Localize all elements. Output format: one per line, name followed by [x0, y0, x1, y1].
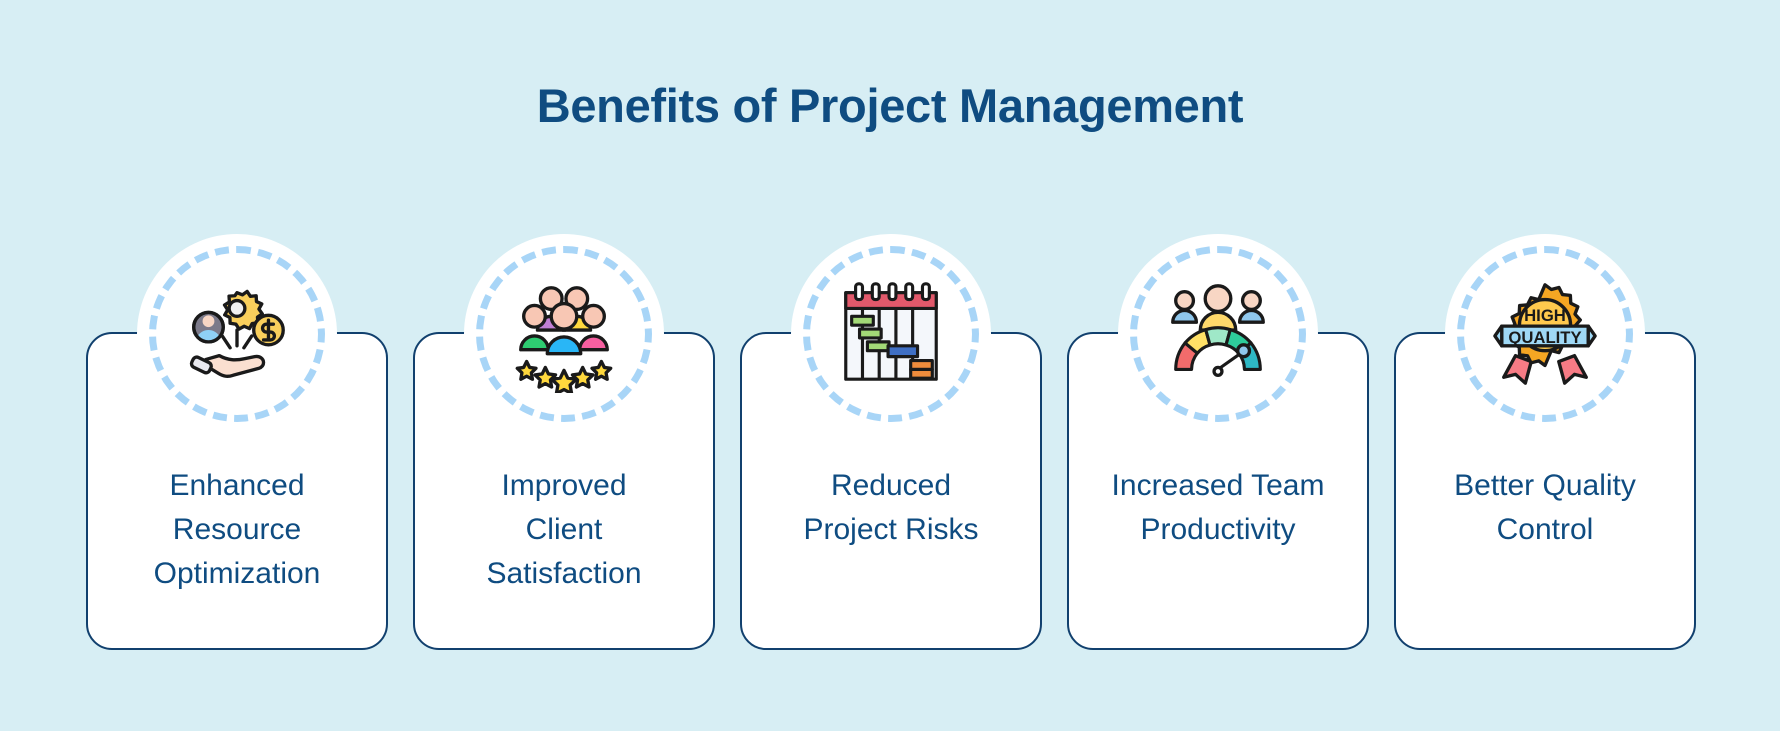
benefit-card-label: Reduced Project Risks — [756, 464, 1026, 552]
benefits-card-list: Enhanced Resource Optimization — [86, 332, 1696, 650]
badge-text-high: HIGH — [1524, 306, 1566, 325]
benefit-card-label: Increased Team Productivity — [1083, 464, 1353, 552]
benefit-card-enhanced-resource-optimization[interactable]: Enhanced Resource Optimization — [86, 332, 388, 650]
benefit-card-increased-team-productivity[interactable]: Increased Team Productivity — [1067, 332, 1369, 650]
benefit-card-reduced-project-risks[interactable]: Reduced Project Risks — [740, 332, 1042, 650]
icon-badge-5: HIGH QUALITY — [1445, 234, 1645, 434]
icon-badge-1 — [137, 234, 337, 434]
page-title: Benefits of Project Management — [0, 78, 1780, 133]
high-quality-badge-icon: HIGH QUALITY — [1486, 275, 1604, 393]
benefit-card-label: Enhanced Resource Optimization — [102, 464, 372, 596]
gantt-chart-icon — [832, 275, 950, 393]
hand-resources-icon — [178, 275, 296, 393]
team-productivity-gauge-icon — [1159, 275, 1277, 393]
benefit-card-better-quality-control[interactable]: HIGH QUALITY Better Quality Control — [1394, 332, 1696, 650]
badge-text-quality: QUALITY — [1508, 328, 1581, 347]
icon-badge-3 — [791, 234, 991, 434]
benefit-card-label: Better Quality Control — [1410, 464, 1680, 552]
icon-badge-2 — [464, 234, 664, 434]
benefit-card-improved-client-satisfaction[interactable]: Improved Client Satisfaction — [413, 332, 715, 650]
client-satisfaction-icon — [505, 275, 623, 393]
icon-badge-4 — [1118, 234, 1318, 434]
benefit-card-label: Improved Client Satisfaction — [429, 464, 699, 596]
